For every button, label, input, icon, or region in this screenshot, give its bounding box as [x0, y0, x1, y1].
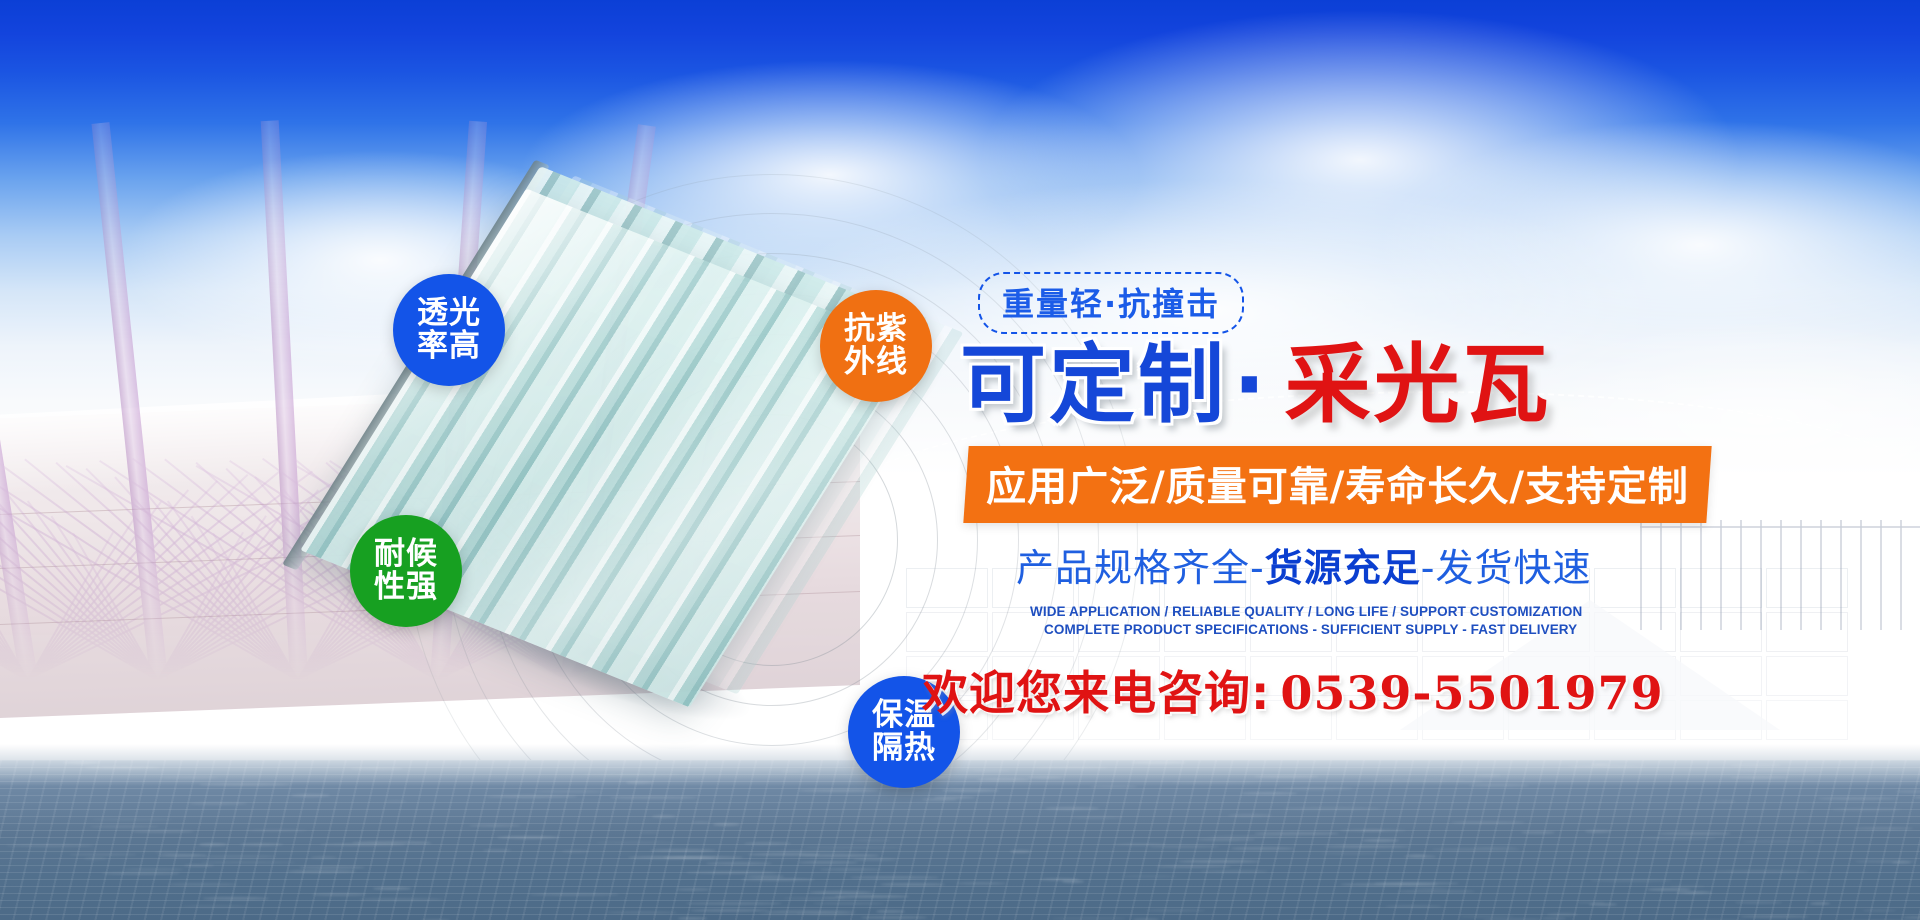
- feature-badge-light-transmittance[interactable]: 透光 率高: [393, 274, 505, 386]
- subline-post: -发货快速: [1421, 546, 1592, 590]
- water-highlight: [1090, 785, 1137, 788]
- water-highlight: [1914, 796, 1920, 799]
- promo-banner: 透光 率高 抗紫 外线 耐候 性强 保温 隔热 重量轻·抗撞击 可定制·采光瓦 …: [0, 0, 1920, 920]
- water-highlight: [1903, 916, 1920, 919]
- copy-block: 重量轻·抗撞击 可定制·采光瓦 应用广泛/质量可靠/寿命长久/支持定制 产品规格…: [960, 272, 1860, 723]
- water-highlight: [158, 854, 207, 857]
- water-highlight: [1730, 776, 1790, 779]
- water-highlight: [1473, 846, 1517, 849]
- water-highlight: [69, 853, 137, 856]
- water-highlight: [1178, 860, 1260, 863]
- water-highlight: [1585, 830, 1611, 833]
- water-highlight: [1590, 879, 1672, 882]
- water-highlight: [189, 802, 247, 805]
- water-highlight: [1156, 865, 1231, 868]
- water-highlight: [1228, 814, 1272, 817]
- water-highlight: [409, 842, 433, 845]
- water-highlight: [759, 912, 801, 915]
- water-highlight: [123, 868, 183, 871]
- water-highlight: [741, 878, 815, 881]
- water-highlight: [596, 841, 676, 844]
- water-highlight: [781, 770, 801, 773]
- water-highlight: [1010, 850, 1032, 853]
- water-highlight: [1863, 909, 1896, 912]
- water-highlight: [161, 776, 218, 779]
- water-highlight: [1542, 917, 1566, 920]
- water-highlight: [247, 829, 307, 832]
- water-highlight: [803, 846, 901, 849]
- water-highlight: [90, 825, 159, 828]
- water-highlight: [287, 870, 357, 873]
- water-highlight: [973, 769, 1009, 772]
- water-highlight: [1121, 875, 1177, 878]
- water-highlight: [199, 843, 227, 846]
- water-highlight: [199, 783, 291, 786]
- water-highlight: [678, 917, 706, 920]
- headline-separator: ·: [1227, 335, 1275, 435]
- water-highlight: [1052, 917, 1127, 920]
- water-highlight: [299, 866, 366, 869]
- water-highlight: [1657, 832, 1731, 835]
- water-highlight: [956, 882, 1006, 885]
- railing-post: [1860, 520, 1862, 630]
- water-highlight: [562, 850, 589, 853]
- water-highlight: [686, 871, 779, 874]
- water-highlight: [359, 898, 444, 901]
- water-highlight: [876, 910, 905, 913]
- water-highlight: [690, 909, 769, 912]
- water-highlight: [853, 839, 891, 842]
- water-highlight: [1241, 792, 1297, 795]
- water-highlight: [626, 781, 653, 784]
- water-highlight: [942, 789, 999, 792]
- tagline-pill: 重量轻·抗撞击: [978, 272, 1244, 334]
- water-highlight: [291, 794, 330, 797]
- water-highlight: [1320, 852, 1381, 855]
- water-highlight: [1231, 847, 1294, 850]
- water-highlight: [798, 861, 858, 864]
- english-line-1: WIDE APPLICATION / RELIABLE QUALITY / LO…: [1030, 604, 1860, 619]
- water-highlight: [1407, 854, 1426, 857]
- water-highlight: [1451, 821, 1526, 824]
- water-highlight: [853, 858, 897, 861]
- water-surface: [0, 760, 1920, 920]
- water-highlight: [1735, 769, 1823, 772]
- water-highlight: [1146, 909, 1204, 912]
- water-highlight: [650, 849, 716, 852]
- water-highlight: [92, 818, 174, 821]
- phone-label: 欢迎您来电咨询:: [922, 666, 1270, 720]
- water-highlight: [1254, 832, 1339, 835]
- water-highlight: [1131, 761, 1186, 764]
- water-highlight: [820, 868, 881, 871]
- water-highlight: [311, 856, 336, 859]
- feature-strip-label: 应用广泛/质量可靠/寿命长久/支持定制: [986, 454, 1689, 512]
- water-highlight: [1676, 891, 1712, 894]
- water-highlight: [628, 856, 717, 859]
- water-highlight: [1810, 902, 1830, 905]
- supply-subline: 产品规格齐全-货源充足-发货快速: [1016, 537, 1860, 592]
- water-highlight: [610, 796, 698, 799]
- phone-number: 0539-5501979: [1280, 666, 1663, 720]
- water-highlight: [84, 857, 107, 860]
- water-highlight: [1361, 829, 1385, 832]
- water-highlight: [706, 862, 771, 865]
- water-highlight: [809, 891, 874, 894]
- water-highlight: [1324, 845, 1410, 848]
- water-highlight: [1385, 905, 1442, 908]
- water-highlight: [1070, 816, 1123, 819]
- subline-pre: 产品规格齐全-: [1016, 546, 1265, 590]
- water-highlight: [744, 842, 791, 845]
- water-highlight: [202, 855, 277, 858]
- water-highlight: [1254, 775, 1319, 778]
- water-highlight: [1712, 800, 1737, 803]
- water-highlight: [1197, 838, 1254, 841]
- water-highlight: [385, 800, 407, 803]
- water-highlight: [1200, 870, 1269, 873]
- water-highlight: [850, 876, 939, 879]
- water-highlight: [880, 883, 945, 886]
- water-highlight: [167, 883, 239, 886]
- water-highlight: [182, 905, 249, 908]
- water-highlight: [529, 893, 618, 896]
- water-highlight: [713, 823, 740, 826]
- railing-post: [1900, 520, 1902, 630]
- water-highlight: [606, 911, 677, 914]
- feature-strip: 应用广泛/质量可靠/寿命长久/支持定制: [963, 446, 1711, 523]
- english-line-2: COMPLETE PRODUCT SPECIFICATIONS - SUFFIC…: [1044, 622, 1860, 637]
- water-highlight: [1854, 827, 1913, 830]
- water-highlight: [1034, 766, 1108, 769]
- subline-bold: 货源充足: [1265, 546, 1421, 590]
- water-highlight: [676, 888, 710, 891]
- water-highlight: [1397, 890, 1476, 893]
- water-highlight: [200, 861, 296, 864]
- water-highlight: [1171, 781, 1260, 784]
- water-highlight: [203, 897, 269, 900]
- water-highlight: [639, 831, 659, 834]
- feature-badge-uv-resistant[interactable]: 抗紫 外线: [820, 290, 932, 402]
- water-highlight: [320, 843, 406, 846]
- water-highlight: [1371, 779, 1465, 782]
- water-highlight: [483, 849, 510, 852]
- water-highlight: [6, 844, 94, 847]
- water-highlight: [1521, 831, 1555, 834]
- water-highlight: [85, 766, 160, 769]
- page-title: 可定制·采光瓦: [960, 340, 1860, 430]
- water-highlight: [1896, 790, 1920, 793]
- water-highlight: [350, 767, 403, 770]
- water-highlight: [813, 902, 884, 905]
- water-highlight: [1740, 915, 1809, 918]
- water-highlight: [469, 824, 521, 827]
- water-highlight: [583, 773, 680, 776]
- water-highlight: [240, 843, 283, 846]
- water-highlight: [1712, 870, 1809, 873]
- water-highlight: [652, 815, 676, 818]
- water-highlight: [1855, 860, 1917, 863]
- water-highlight: [1831, 808, 1903, 811]
- headline-blue: 可定制: [960, 335, 1227, 435]
- water-highlight: [1469, 784, 1529, 787]
- contact-phone[interactable]: 欢迎您来电咨询:0539-5501979: [922, 657, 1860, 723]
- water-highlight: [796, 912, 854, 915]
- water-highlight: [1742, 840, 1817, 843]
- water-highlight: [798, 789, 879, 792]
- water-highlight: [373, 887, 411, 890]
- water-highlight: [861, 916, 927, 919]
- water-highlight: [686, 902, 782, 905]
- water-highlight: [1028, 776, 1063, 779]
- water-highlight: [312, 893, 367, 896]
- water-highlight: [1475, 774, 1501, 777]
- water-highlight: [1150, 845, 1219, 848]
- water-highlight: [102, 872, 180, 875]
- water-highlight: [1735, 901, 1782, 904]
- water-highlight: [977, 778, 1029, 781]
- water-highlight: [1589, 903, 1617, 906]
- water-highlight: [799, 854, 879, 857]
- water-highlight: [131, 830, 195, 833]
- feature-badge-weather-resistant[interactable]: 耐候 性强: [350, 515, 462, 627]
- water-highlight: [1818, 797, 1898, 800]
- water-highlight: [1641, 837, 1717, 840]
- water-highlight: [1283, 807, 1380, 810]
- water-highlight: [1040, 878, 1078, 881]
- water-highlight: [1045, 807, 1100, 810]
- water-highlight: [486, 795, 577, 798]
- water-highlight: [63, 761, 100, 764]
- water-highlight: [1277, 787, 1353, 790]
- water-highlight: [692, 821, 710, 824]
- water-highlight: [184, 864, 214, 867]
- water-highlight: [1730, 764, 1782, 767]
- water-highlight: [534, 790, 601, 793]
- water-highlight: [1362, 839, 1398, 842]
- water-highlight: [497, 836, 560, 839]
- headline-red: 采光瓦: [1285, 335, 1552, 435]
- railing-post: [1880, 520, 1882, 630]
